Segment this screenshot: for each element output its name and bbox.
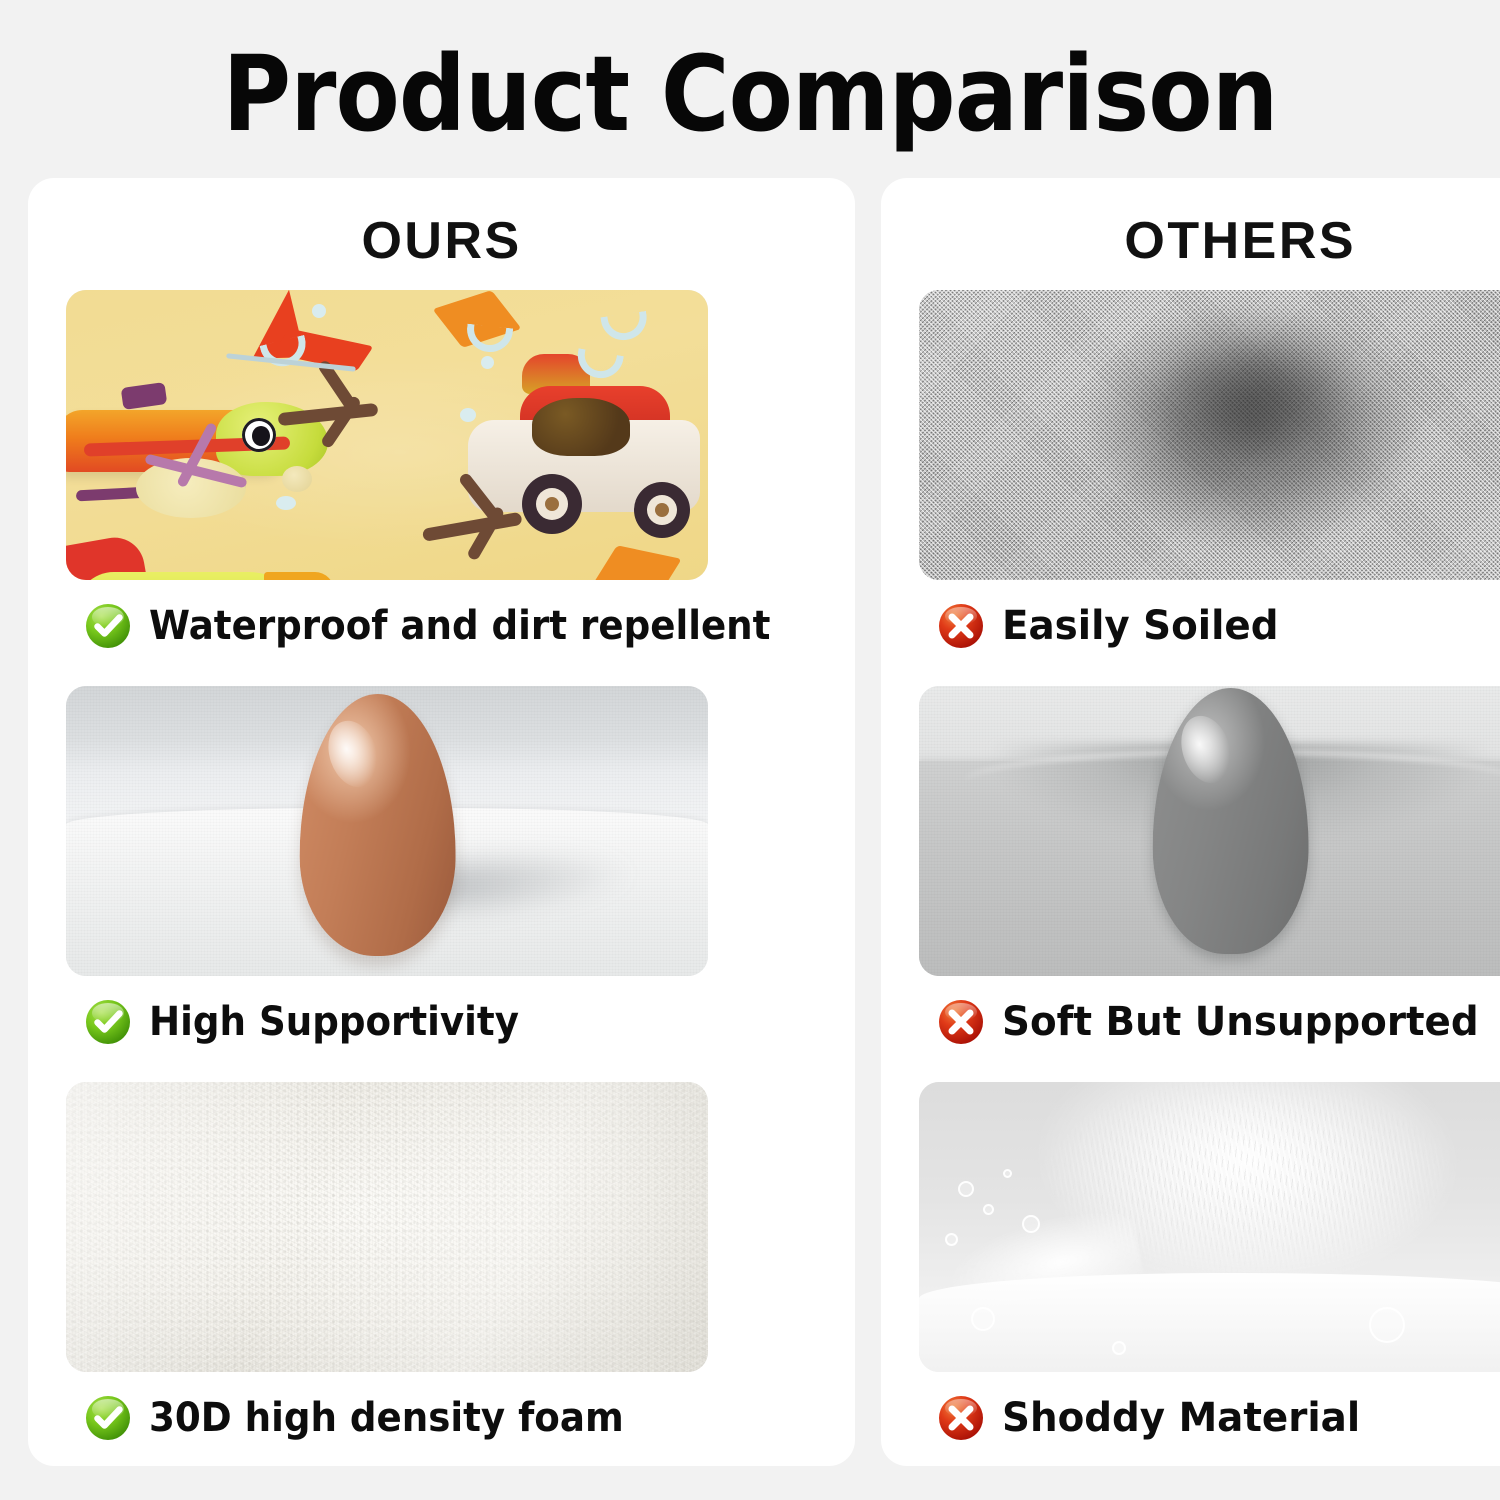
others-caption-3: Shoddy Material [919, 1372, 1500, 1464]
dot-3-graphic [460, 408, 476, 422]
dot-2-graphic [481, 356, 494, 369]
ours-caption-3: 30D high density foam [66, 1372, 817, 1464]
foam-block-surface [66, 1082, 708, 1372]
ours-row-2: High Supportivity [66, 686, 817, 1068]
plane-tail-graphic [264, 572, 334, 580]
water-splash-bubbles-photo [919, 1082, 1500, 1372]
bubble-3 [945, 1233, 958, 1246]
ours-row-3: 30D high density foam [66, 1082, 817, 1464]
dot-1-graphic [312, 304, 326, 318]
bubble-7 [971, 1307, 995, 1331]
gray-fabric-surface [919, 290, 1500, 580]
ours-caption-2: High Supportivity [66, 976, 817, 1068]
product-comparison-infographic: Product Comparison OURS [0, 0, 1500, 1500]
others-row-2: Soft But Unsupported [919, 686, 1500, 1068]
others-caption-1-text: Easily Soiled [1002, 603, 1278, 649]
others-column-card: OTHERS [881, 178, 1500, 1466]
play-mat-surface [66, 290, 708, 580]
orange-chevron-bottom-graphic [592, 545, 681, 580]
bubble-8 [1112, 1341, 1126, 1355]
arc-mark-3-graphic [600, 311, 649, 343]
cross-badge-icon [937, 602, 985, 650]
dirt-stain-core [1112, 302, 1394, 511]
others-caption-1: Easily Soiled [919, 580, 1500, 672]
water-pool [919, 1273, 1500, 1372]
helicopter-pupil-graphic [252, 426, 270, 446]
foam-sheen [66, 1082, 708, 1372]
colorful-vehicle-play-mat-photo [66, 290, 708, 580]
ours-column-card: OURS [28, 178, 855, 1466]
check-badge-icon [84, 998, 132, 1046]
others-caption-2-text: Soft But Unsupported [1002, 999, 1479, 1045]
soft-foam-scene [919, 686, 1500, 976]
ours-caption-1-text: Waterproof and dirt repellent [149, 603, 770, 649]
dot-4-graphic [276, 496, 296, 510]
firm-foam-scene [66, 686, 708, 976]
others-row-1: Easily Soiled [919, 290, 1500, 672]
arc-mark-2-graphic [465, 324, 513, 355]
ours-caption-1: Waterproof and dirt repellent [66, 580, 817, 672]
ours-column-header: OURS [66, 208, 817, 274]
ours-caption-2-text: High Supportivity [149, 999, 519, 1045]
others-rows: Easily Soiled [919, 290, 1500, 1478]
helicopter-rotor-hub-graphic [121, 382, 168, 410]
propeller-left-graphic [278, 386, 388, 436]
police-car-rear-wheel-graphic [634, 482, 690, 538]
water-splash-scene [919, 1082, 1500, 1372]
dot-5-graphic [282, 466, 312, 492]
bubble-6 [1369, 1307, 1405, 1343]
white-high-density-foam-texture-photo [66, 1082, 708, 1372]
brown-egg-on-firm-foam-photo [66, 686, 708, 976]
stained-gray-fabric-photo [919, 290, 1500, 580]
gray-egg-sinking-into-soft-foam-photo [919, 686, 1500, 976]
ours-caption-3-text: 30D high density foam [149, 1395, 624, 1441]
cross-badge-icon [937, 1394, 985, 1442]
check-badge-icon [84, 602, 132, 650]
check-badge-icon [84, 1394, 132, 1442]
comparison-columns: OURS [28, 178, 1472, 1466]
ours-row-1: Waterproof and dirt repellent [66, 290, 817, 672]
police-car-windshield-graphic [532, 398, 630, 456]
cross-badge-icon [937, 998, 985, 1046]
others-caption-2: Soft But Unsupported [919, 976, 1500, 1068]
ours-rows: Waterproof and dirt repellent [66, 290, 817, 1478]
bubble-1 [958, 1181, 974, 1197]
propeller-right-graphic [420, 494, 533, 552]
others-caption-3-text: Shoddy Material [1002, 1395, 1360, 1441]
bubble-4 [1003, 1169, 1012, 1178]
others-column-header: OTHERS [919, 208, 1500, 274]
others-row-3: Shoddy Material [919, 1082, 1500, 1464]
page-title: Product Comparison [75, 34, 1425, 154]
bubble-2 [983, 1204, 994, 1215]
